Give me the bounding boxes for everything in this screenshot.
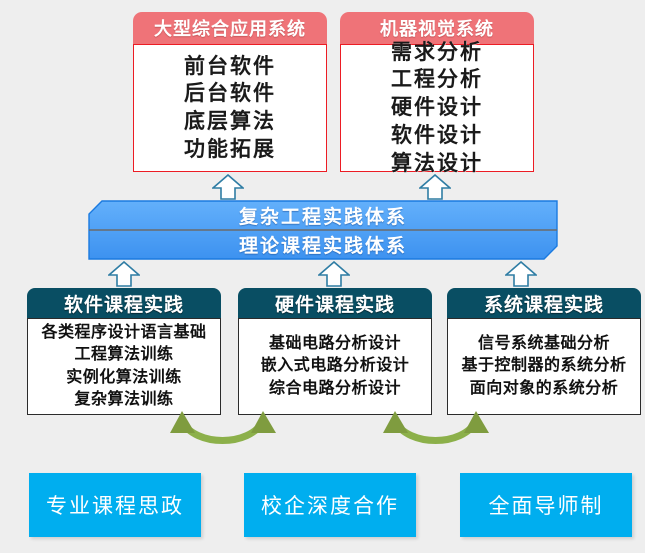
course-box-system-practice[interactable]: 系统课程实践 信号系统基础分析 基于控制器的系统分析 面向对象的系统分析 bbox=[447, 288, 641, 415]
bottom-box-professional-course-ideology[interactable]: 专业课程思政 bbox=[29, 473, 201, 537]
up-arrow-to-hardware-practice bbox=[318, 261, 350, 287]
top-box-1-item-4: 功能拓展 bbox=[184, 136, 276, 164]
course-box-1-item-2: 工程算法训练 bbox=[74, 344, 173, 366]
top-box-1-header: 大型综合应用系统 bbox=[133, 12, 327, 44]
up-arrow-to-software-practice bbox=[108, 261, 140, 287]
course-box-2-body: 基础电路分析设计 嵌入式电路分析设计 综合电路分析设计 bbox=[238, 318, 432, 415]
top-box-1-body: 前台软件 后台软件 底层算法 功能拓展 bbox=[133, 44, 327, 172]
course-box-1-item-4: 复杂算法训练 bbox=[74, 389, 173, 411]
bottom-box-school-enterprise-cooperation[interactable]: 校企深度合作 bbox=[244, 473, 416, 537]
top-box-large-app-system[interactable]: 大型综合应用系统 前台软件 后台软件 底层算法 功能拓展 bbox=[133, 12, 327, 172]
top-box-1-item-3: 底层算法 bbox=[184, 108, 276, 136]
course-box-3-item-2: 基于控制器的系统分析 bbox=[461, 355, 626, 377]
course-box-hardware-practice[interactable]: 硬件课程实践 基础电路分析设计 嵌入式电路分析设计 综合电路分析设计 bbox=[238, 288, 432, 415]
course-box-1-body: 各类程序设计语言基础 工程算法训练 实例化算法训练 复杂算法训练 bbox=[27, 318, 221, 415]
course-box-2-header: 硬件课程实践 bbox=[238, 288, 432, 318]
course-box-1-item-1: 各类程序设计语言基础 bbox=[41, 322, 206, 344]
bottom-box-full-mentor-system[interactable]: 全面导师制 bbox=[460, 473, 632, 537]
up-arrow-to-large-app-system bbox=[212, 174, 244, 200]
top-box-2-item-4: 软件设计 bbox=[391, 122, 483, 150]
course-box-software-practice[interactable]: 软件课程实践 各类程序设计语言基础 工程算法训练 实例化算法训练 复杂算法训练 bbox=[27, 288, 221, 415]
green-double-arrow-software-hardware bbox=[165, 409, 280, 451]
course-box-2-item-3: 综合电路分析设计 bbox=[269, 378, 401, 400]
course-box-3-header: 系统课程实践 bbox=[447, 288, 641, 318]
up-arrow-to-machine-vision-system bbox=[419, 174, 451, 200]
top-box-2-item-1: 需求分析 bbox=[391, 39, 483, 67]
top-box-1-item-2: 后台软件 bbox=[184, 80, 276, 108]
course-box-2-item-2: 嵌入式电路分析设计 bbox=[261, 355, 410, 377]
diagram-canvas: 大型综合应用系统 前台软件 后台软件 底层算法 功能拓展 机器视觉系统 需求分析… bbox=[0, 0, 645, 553]
top-box-2-item-2: 工程分析 bbox=[391, 66, 483, 94]
banner-line-2: 理论课程实践体系 bbox=[88, 230, 558, 259]
course-box-3-item-3: 面向对象的系统分析 bbox=[470, 378, 619, 400]
course-box-3-body: 信号系统基础分析 基于控制器的系统分析 面向对象的系统分析 bbox=[447, 318, 641, 415]
top-box-2-body: 需求分析 工程分析 硬件设计 软件设计 算法设计 bbox=[340, 44, 534, 172]
course-box-1-item-3: 实例化算法训练 bbox=[66, 367, 182, 389]
top-box-2-item-3: 硬件设计 bbox=[391, 94, 483, 122]
up-arrow-to-system-practice bbox=[505, 261, 537, 287]
green-double-arrow-hardware-system bbox=[378, 409, 493, 451]
course-box-2-item-1: 基础电路分析设计 bbox=[269, 333, 401, 355]
course-box-3-item-1: 信号系统基础分析 bbox=[478, 333, 610, 355]
course-box-1-header: 软件课程实践 bbox=[27, 288, 221, 318]
banner-line-1: 复杂工程实践体系 bbox=[88, 201, 558, 230]
top-box-machine-vision-system[interactable]: 机器视觉系统 需求分析 工程分析 硬件设计 软件设计 算法设计 bbox=[340, 12, 534, 172]
top-box-1-item-1: 前台软件 bbox=[184, 53, 276, 81]
practice-system-banner[interactable]: 复杂工程实践体系 理论课程实践体系 bbox=[88, 200, 558, 260]
